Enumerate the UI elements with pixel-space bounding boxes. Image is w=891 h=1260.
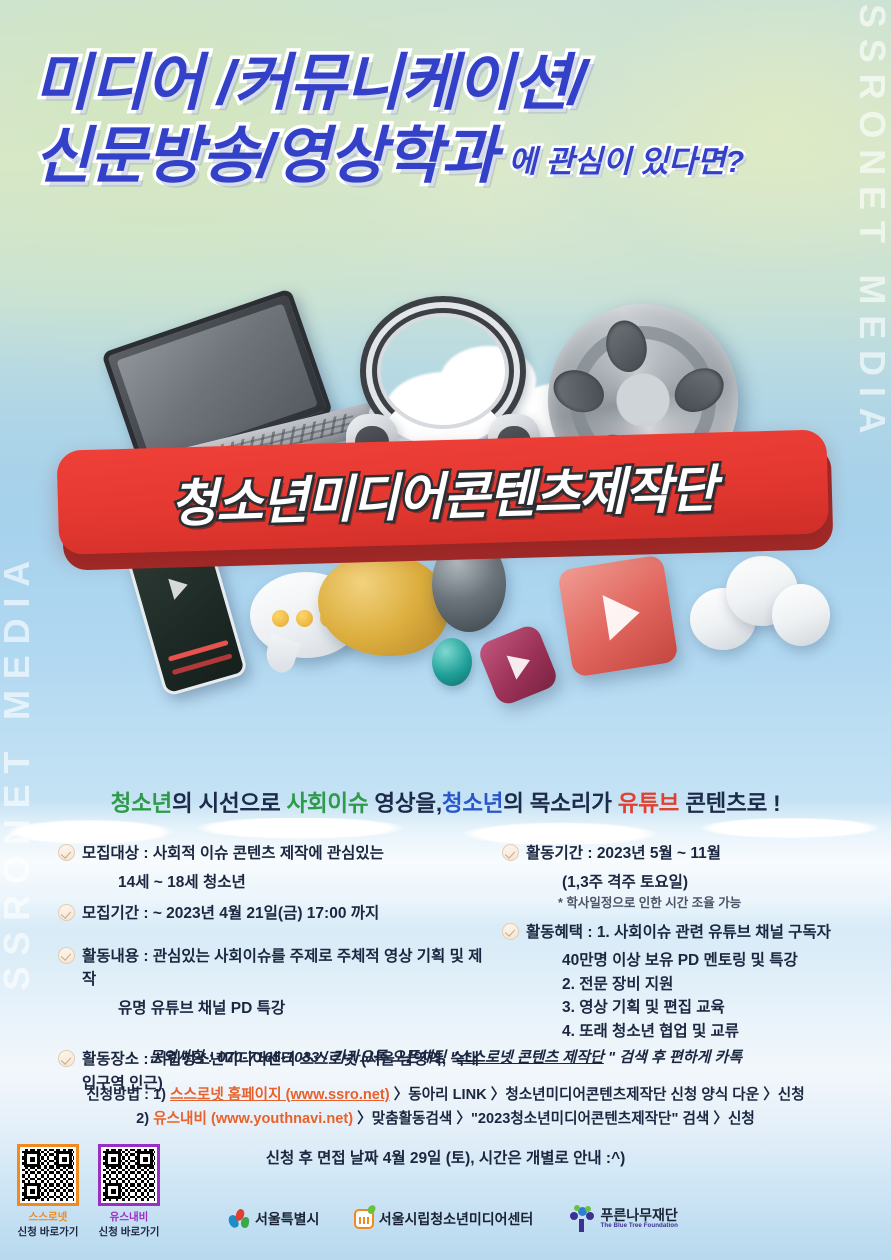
leaf-icon bbox=[366, 1204, 376, 1215]
logo-blue-tree-foundation: 푸른나무재단 The Blue Tree Foundation bbox=[568, 1206, 678, 1232]
qr-title: 스스로넷 bbox=[14, 1209, 82, 1224]
logo-label: 서울시립청소년미디어센터 bbox=[379, 1209, 534, 1229]
logo-label: 서울특별시 bbox=[255, 1209, 319, 1229]
logo-sublabel: The Blue Tree Foundation bbox=[601, 1223, 678, 1230]
apply-line-1: 신청방법 : 1) 스스로넷 홈페이지 (www.ssro.net) 〉동아리 … bbox=[0, 1084, 891, 1108]
apply-link-ssro-text: 스스로넷 홈페이지 (www.ssro.net) bbox=[170, 1087, 390, 1103]
footer-logos: 서울특별시 서울시립청소년미디어센터 푸른나무재단 The Blue Tree … bbox=[228, 1206, 678, 1232]
qr-code-ssro[interactable] bbox=[17, 1144, 79, 1206]
tagline-part-2: 의 시선으로 bbox=[172, 791, 286, 816]
tree-leaf bbox=[574, 1205, 580, 1211]
info-continuation: 14세 ~ 18세 청소년 bbox=[58, 871, 488, 895]
headline-line-2: 신문방송/영상학과 bbox=[34, 125, 496, 188]
info-label: 활동내용 : 관심있는 사회이슈를 주제로 주체적 영상 기획 및 제작 bbox=[82, 945, 488, 992]
contact-suffix: " 검색 후 편하게 카톡 bbox=[604, 1049, 742, 1066]
reel-hole bbox=[601, 317, 651, 376]
check-circle-icon bbox=[58, 904, 75, 921]
check-circle-icon bbox=[58, 947, 75, 964]
bubble-dot bbox=[296, 610, 313, 627]
spacer bbox=[58, 1020, 488, 1034]
play-icon bbox=[168, 574, 190, 600]
apply-link-youthnavi[interactable]: 유스내비 (www.youthnavi.net) bbox=[153, 1111, 353, 1127]
apply-line-2-prefix: 2) bbox=[136, 1111, 153, 1127]
tagline-part-3: 사회이슈 bbox=[286, 791, 368, 816]
info-item-activity-period: 활동기간 : 2023년 5월 ~ 11월 bbox=[502, 842, 882, 866]
contact-prefix: 문의사항 : 070-7165-1033 / 카카오톡 오픈채팅 " bbox=[149, 1049, 458, 1066]
tagline-part-5: 청소년 bbox=[442, 791, 503, 816]
info-label: 활동혜택 : 1. 사회이슈 관련 유튜브 채널 구독자 bbox=[526, 921, 831, 945]
check-circle-icon bbox=[502, 923, 519, 940]
qr-finder-icon bbox=[24, 1151, 40, 1167]
tree-leaf bbox=[570, 1212, 578, 1220]
apply-line-2: 2) 유스내비 (www.youthnavi.net) 〉맞춤활동검색 〉"20… bbox=[0, 1108, 891, 1132]
check-circle-icon bbox=[58, 844, 75, 861]
spacer bbox=[58, 894, 488, 902]
poster-root: SSRONET MEDIA SSRONET MEDIA 미디어 /커뮤니케이션/… bbox=[0, 0, 891, 1260]
check-circle-icon bbox=[502, 844, 519, 861]
headline-tail: 에 관심이 있다면? bbox=[508, 136, 744, 188]
tree-trunk bbox=[579, 1219, 584, 1232]
info-note: * 학사일정으로 인한 시간 조율 가능 bbox=[502, 894, 882, 913]
reel-hole bbox=[547, 363, 610, 420]
info-item-content: 활동내용 : 관심있는 사회이슈를 주제로 주체적 영상 기획 및 제작 bbox=[58, 945, 488, 992]
qr-finder-icon bbox=[24, 1183, 40, 1199]
benefit-item: 40만명 이상 보유 PD 멘토링 및 특강 bbox=[502, 949, 882, 973]
qr-code-youthnavi[interactable] bbox=[98, 1144, 160, 1206]
tagline: 청소년의 시선으로 사회이슈 영상을,청소년의 목소리가 유튜브 콘텐츠로 ! bbox=[0, 786, 891, 818]
play-icon bbox=[603, 590, 644, 641]
banner-title: 청소년미디어콘텐츠제작단 bbox=[170, 447, 717, 536]
info-item-benefits: 활동혜택 : 1. 사회이슈 관련 유튜브 채널 구독자 bbox=[502, 921, 882, 945]
headline-block: 미디어 /커뮤니케이션/ 신문방송/영상학과 에 관심이 있다면? bbox=[34, 52, 874, 188]
play-icon bbox=[507, 648, 535, 680]
reel-hole bbox=[667, 359, 732, 420]
benefit-item: 2. 전문 장비 지원 bbox=[502, 973, 882, 997]
tagline-part-6: 의 목소리가 bbox=[503, 791, 617, 816]
apply-line-1-suffix: 〉동아리 LINK 〉청소년미디어콘텐츠제작단 신청 양식 다운 〉신청 bbox=[390, 1087, 805, 1103]
qr-code-group: 스스로넷 신청 바로가기 유스내비 신청 바로가기 bbox=[14, 1144, 204, 1239]
logo-ssro-center: 서울시립청소년미디어센터 bbox=[354, 1209, 534, 1229]
qr-item-ssro[interactable]: 스스로넷 신청 바로가기 bbox=[14, 1144, 82, 1239]
qr-finder-icon bbox=[56, 1151, 72, 1167]
apply-line-1-prefix: 신청방법 : 1) bbox=[86, 1087, 170, 1103]
apply-link-ssro[interactable]: 스스로넷 홈페이지 (www.ssro.net) bbox=[170, 1087, 390, 1103]
tagline-part-4: 영상을, bbox=[368, 791, 441, 816]
info-label: 활동기간 : 2023년 5월 ~ 11월 bbox=[526, 842, 721, 866]
tree-leaf bbox=[586, 1212, 594, 1220]
banner-surface: 청소년미디어콘텐츠제작단 bbox=[56, 429, 829, 554]
headline-line-1: 미디어 /커뮤니케이션/ bbox=[34, 52, 584, 115]
tagline-part-7: 유튜브 bbox=[618, 791, 679, 816]
play-tile-magenta bbox=[476, 622, 560, 707]
spacer bbox=[58, 931, 488, 945]
ssro-center-icon bbox=[354, 1209, 374, 1229]
qr-item-youthnavi[interactable]: 유스내비 신청 바로가기 bbox=[95, 1144, 163, 1239]
seoul-icon-part bbox=[240, 1217, 249, 1229]
qr-title: 유스내비 bbox=[95, 1209, 163, 1224]
info-label: 모집기간 : ~ 2023년 4월 21일(금) 17:00 까지 bbox=[82, 902, 379, 926]
apply-methods: 신청방법 : 1) 스스로넷 홈페이지 (www.ssro.net) 〉동아리 … bbox=[0, 1084, 891, 1131]
qr-finder-icon bbox=[137, 1151, 153, 1167]
info-item-target: 모집대상 : 사회적 이슈 콘텐츠 제작에 관심있는 bbox=[58, 842, 488, 866]
qr-finder-icon bbox=[105, 1151, 121, 1167]
apply-line-2-suffix: 〉맞춤활동검색 〉"2023청소년미디어콘텐츠제작단" 검색 〉신청 bbox=[353, 1111, 755, 1127]
teal-sphere-shape bbox=[432, 638, 472, 686]
spacer bbox=[502, 913, 882, 921]
cloud-icon bbox=[690, 554, 830, 650]
info-label: 모집대상 : 사회적 이슈 콘텐츠 제작에 관심있는 bbox=[82, 842, 384, 866]
cloud-lobe bbox=[772, 584, 830, 646]
bubble-dot bbox=[272, 610, 289, 627]
contact-highlight: 스스로넷 콘텐츠 제작단 bbox=[457, 1049, 603, 1066]
info-column-right: 활동기간 : 2023년 5월 ~ 11월 (1,3주 격주 토요일) * 학사… bbox=[502, 842, 882, 1044]
qr-subtitle: 신청 바로가기 bbox=[14, 1224, 82, 1239]
benefit-item: 4. 또래 청소년 협업 및 교류 bbox=[502, 1020, 882, 1044]
qr-subtitle: 신청 바로가기 bbox=[95, 1224, 163, 1239]
info-section: 모집대상 : 사회적 이슈 콘텐츠 제작에 관심있는 14세 ~ 18세 청소년… bbox=[0, 842, 891, 1032]
logo-seoul-city: 서울특별시 bbox=[228, 1208, 319, 1230]
info-continuation: (1,3주 격주 토요일) bbox=[502, 871, 882, 895]
logo-label: 푸른나무재단 bbox=[601, 1208, 678, 1223]
headline-row-1: 미디어 /커뮤니케이션/ bbox=[34, 52, 874, 115]
tagline-part-1: 청소년 bbox=[111, 791, 172, 816]
wave-band-crest bbox=[0, 818, 891, 844]
contact-line: 문의사항 : 070-7165-1033 / 카카오톡 오픈채팅 "스스로넷 콘… bbox=[0, 1046, 891, 1067]
main-banner: 청소년미디어콘텐츠제작단 bbox=[56, 429, 834, 571]
play-tile-pink bbox=[557, 554, 679, 677]
qr-finder-icon bbox=[105, 1183, 121, 1199]
headline-row-2: 신문방송/영상학과 에 관심이 있다면? bbox=[34, 125, 874, 188]
tree-leaf bbox=[585, 1206, 591, 1212]
seoul-city-icon bbox=[228, 1208, 250, 1230]
tagline-part-8: 콘텐츠로 ! bbox=[679, 791, 780, 816]
benefit-item: 3. 영상 기획 및 편집 교육 bbox=[502, 996, 882, 1020]
blue-tree-text: 푸른나무재단 The Blue Tree Foundation bbox=[601, 1208, 678, 1229]
blue-tree-icon bbox=[568, 1206, 596, 1232]
info-continuation: 유명 유튜브 채널 PD 특강 bbox=[58, 997, 488, 1021]
info-item-period: 모집기간 : ~ 2023년 4월 21일(금) 17:00 까지 bbox=[58, 902, 488, 926]
